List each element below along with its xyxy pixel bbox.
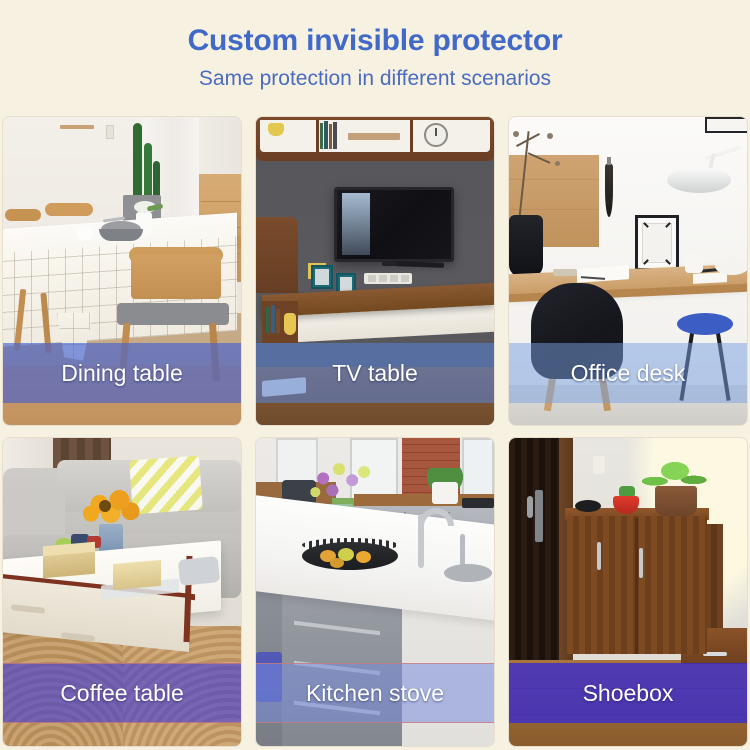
- caption-band: TV table: [256, 343, 494, 403]
- caption-band: Coffee table: [3, 663, 241, 723]
- tile-caption: Dining table: [61, 360, 182, 386]
- caption-band: Kitchen stove: [256, 663, 494, 723]
- page-title: Custom invisible protector: [0, 22, 750, 60]
- caption-band: Dining table: [3, 343, 241, 403]
- scenario-tile-dining-table[interactable]: Dining table: [3, 117, 241, 425]
- scenario-tile-shoebox[interactable]: Shoebox: [509, 438, 747, 746]
- caption-band: Shoebox: [509, 663, 747, 723]
- page-subtitle: Same protection in different scenarios: [0, 64, 750, 94]
- scenario-tile-coffee-table[interactable]: Coffee table: [3, 438, 241, 746]
- tile-caption: Shoebox: [583, 680, 674, 706]
- scenario-tile-kitchen-stove[interactable]: Kitchen stove: [256, 438, 494, 746]
- scenario-tile-office-desk[interactable]: Office desk: [509, 117, 747, 425]
- header: Custom invisible protector Same protecti…: [0, 0, 750, 94]
- tile-caption: Kitchen stove: [306, 680, 444, 706]
- caption-band: Office desk: [509, 343, 747, 403]
- tile-caption: Coffee table: [60, 680, 184, 706]
- tile-caption: Office desk: [571, 360, 686, 386]
- tile-caption: TV table: [332, 360, 418, 386]
- scenario-grid: Dining table: [3, 117, 747, 747]
- scenario-tile-tv-table[interactable]: TV table: [256, 117, 494, 425]
